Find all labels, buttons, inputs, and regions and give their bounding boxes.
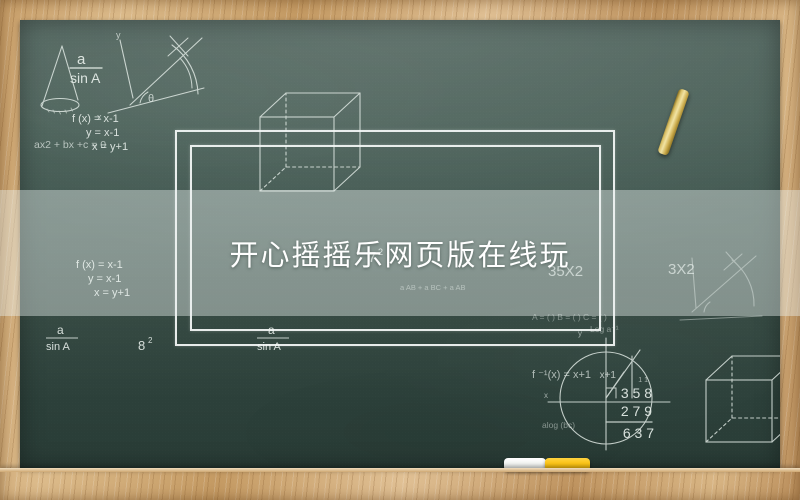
chalk-ledge-lip xyxy=(0,468,800,472)
chalk-text-axis-x-topleft: x xyxy=(97,112,102,122)
chalk-text-frac-sina-mid: sin A xyxy=(257,341,282,353)
chalk-text-quadratic: ax2 + bx +c = 0 xyxy=(34,139,106,151)
chalk-text-theta-topleft: θ xyxy=(148,93,154,105)
blackboard-title-card: a sin A y x θ ax2 + bx +c = 0 f (x) = x-… xyxy=(0,0,800,500)
chalk-text-fraction-a-top: a xyxy=(77,51,86,68)
chalk-text-eight: 8 xyxy=(138,338,145,353)
chalk-text-addend-2: 2 7 9 xyxy=(621,403,652,419)
chalk-text-frac-a-left: a xyxy=(57,323,64,337)
chalk-text-axis-y-topleft: y xyxy=(116,30,121,40)
chalk-text-addend-1: 3 5 8 xyxy=(621,385,652,401)
chalk-text-log-a: Log a⁻¹ xyxy=(590,324,619,334)
chalk-text-fraction-sina-top: sin A xyxy=(70,70,101,86)
chalk-text-alog-bc: alog (bc) xyxy=(542,420,575,430)
cube-diagram-right xyxy=(706,356,780,442)
chalk-ledge xyxy=(0,468,800,500)
chalk-text-x-plus-1: x+1 xyxy=(600,370,617,381)
yellow-chalk-diagonal-icon xyxy=(657,88,690,156)
angle-compass-diagram-topleft xyxy=(108,36,204,113)
chalk-text-y-equals: y = x-1 xyxy=(86,127,119,139)
cone-icon xyxy=(41,46,79,114)
chalk-text-inverse-function: f ⁻¹(x) = x+1 xyxy=(532,369,591,381)
chalk-text-carry: 1 1 xyxy=(638,377,648,384)
chalk-text-axis-y-circle: y xyxy=(578,329,582,338)
chalk-text-fx: f (x) = x-1 xyxy=(72,113,119,125)
chalk-text-eight-sup: 2 xyxy=(148,336,153,345)
title-band: 开心摇摇乐网页版在线玩 xyxy=(0,190,800,316)
cube-diagram-center xyxy=(260,93,360,191)
chalk-text-sum: 6 3 7 xyxy=(623,425,654,441)
chalk-text-frac-a-mid: a xyxy=(268,323,275,337)
chalk-text-frac-sina-left: sin A xyxy=(46,341,71,353)
chalk-text-x-equals: x = y+1 xyxy=(92,141,128,153)
chalk-text-axis-x-circle: x xyxy=(544,391,548,400)
page-title: 开心摇摇乐网页版在线玩 xyxy=(229,232,570,274)
circle-diagram-right xyxy=(548,338,670,450)
